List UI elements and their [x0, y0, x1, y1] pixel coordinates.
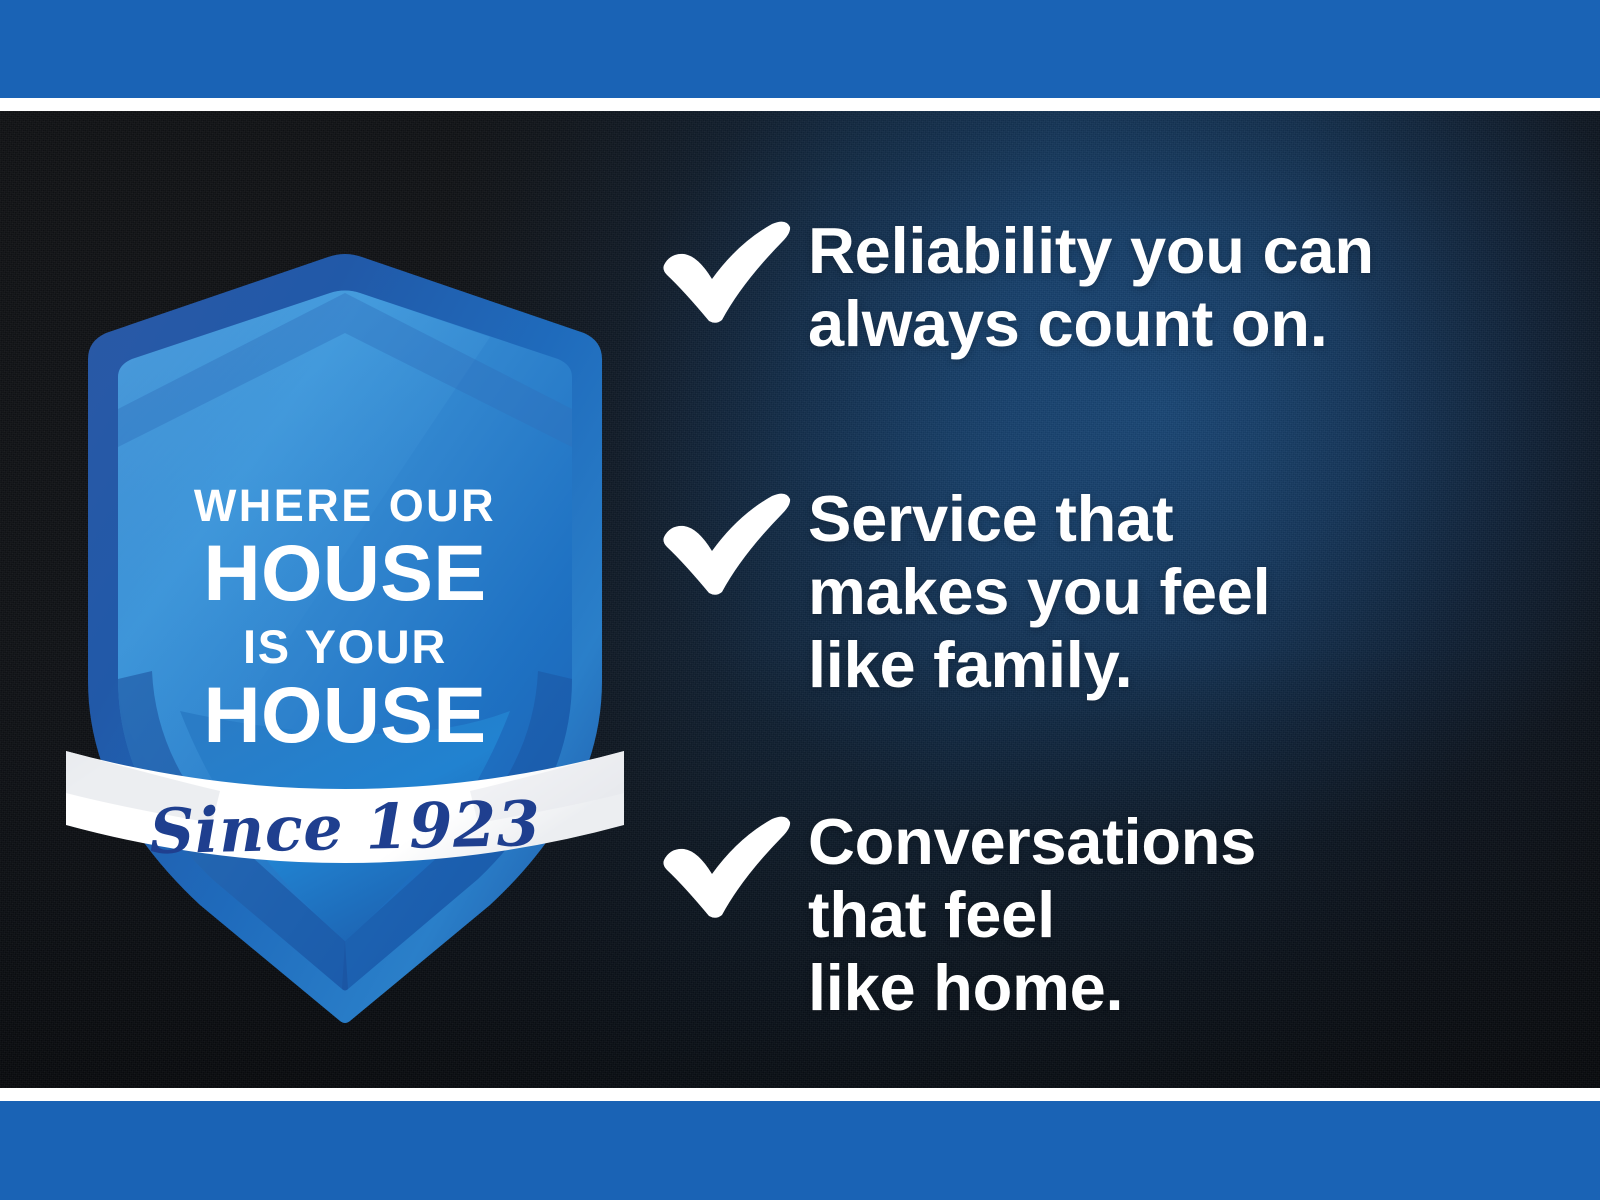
promo-banner: Where our House Is your House Since 1923…: [0, 0, 1600, 1200]
check-icon: [660, 806, 808, 918]
emblem-ribbon-text: Since 1923: [59, 785, 630, 870]
benefit-text: Service that makes you feel like family.: [808, 483, 1270, 701]
banner-stage: Where our House Is your House Since 1923…: [0, 111, 1600, 1088]
check-icon: [660, 211, 808, 323]
emblem-line-house-2: House: [60, 675, 630, 754]
top-white-divider: [0, 98, 1600, 111]
benefit-item: Reliability you can always count on.: [660, 211, 1374, 361]
benefit-item: Conversations that feel like home.: [660, 806, 1256, 1024]
shield-badge-emblem: Where our House Is your House Since 1923: [60, 241, 630, 921]
bottom-brand-bar: [0, 1101, 1600, 1200]
top-brand-bar: [0, 0, 1600, 98]
benefit-text: Conversations that feel like home.: [808, 806, 1256, 1024]
emblem-line-house-1: House: [60, 533, 630, 612]
check-icon: [660, 483, 808, 595]
benefit-text: Reliability you can always count on.: [808, 211, 1374, 361]
benefit-item: Service that makes you feel like family.: [660, 483, 1270, 701]
emblem-line-is-your: Is your: [60, 623, 630, 670]
bottom-white-divider: [0, 1088, 1600, 1101]
emblem-line-where: Where our: [60, 483, 630, 528]
